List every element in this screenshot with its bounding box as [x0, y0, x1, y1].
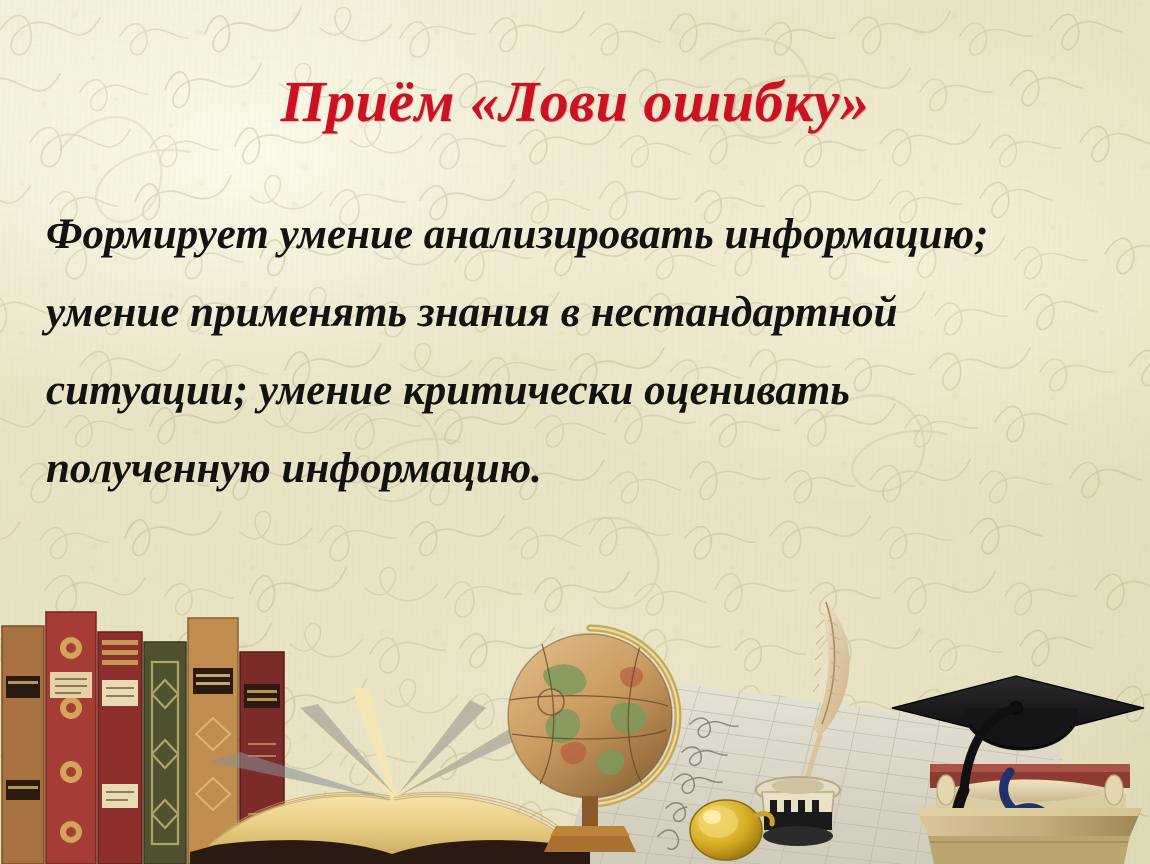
study-still-life-artwork: [0, 584, 1150, 864]
inkwell: [756, 777, 840, 846]
slide-title: Приём «Лови ошибку»: [0, 68, 1150, 135]
body-line: ситуации; умение критически оценивать: [46, 352, 1086, 430]
body-line: умение применять знания в нестандартной: [46, 274, 1086, 352]
body-line: полученную информацию.: [46, 430, 1086, 508]
plinth: [916, 808, 1142, 864]
body-line: Формирует умение анализировать информаци…: [46, 196, 1086, 274]
presentation-slide: Приём «Лови ошибку» Формирует умение ана…: [0, 0, 1150, 864]
slide-body-text: Формирует умение анализировать информаци…: [46, 196, 1086, 508]
